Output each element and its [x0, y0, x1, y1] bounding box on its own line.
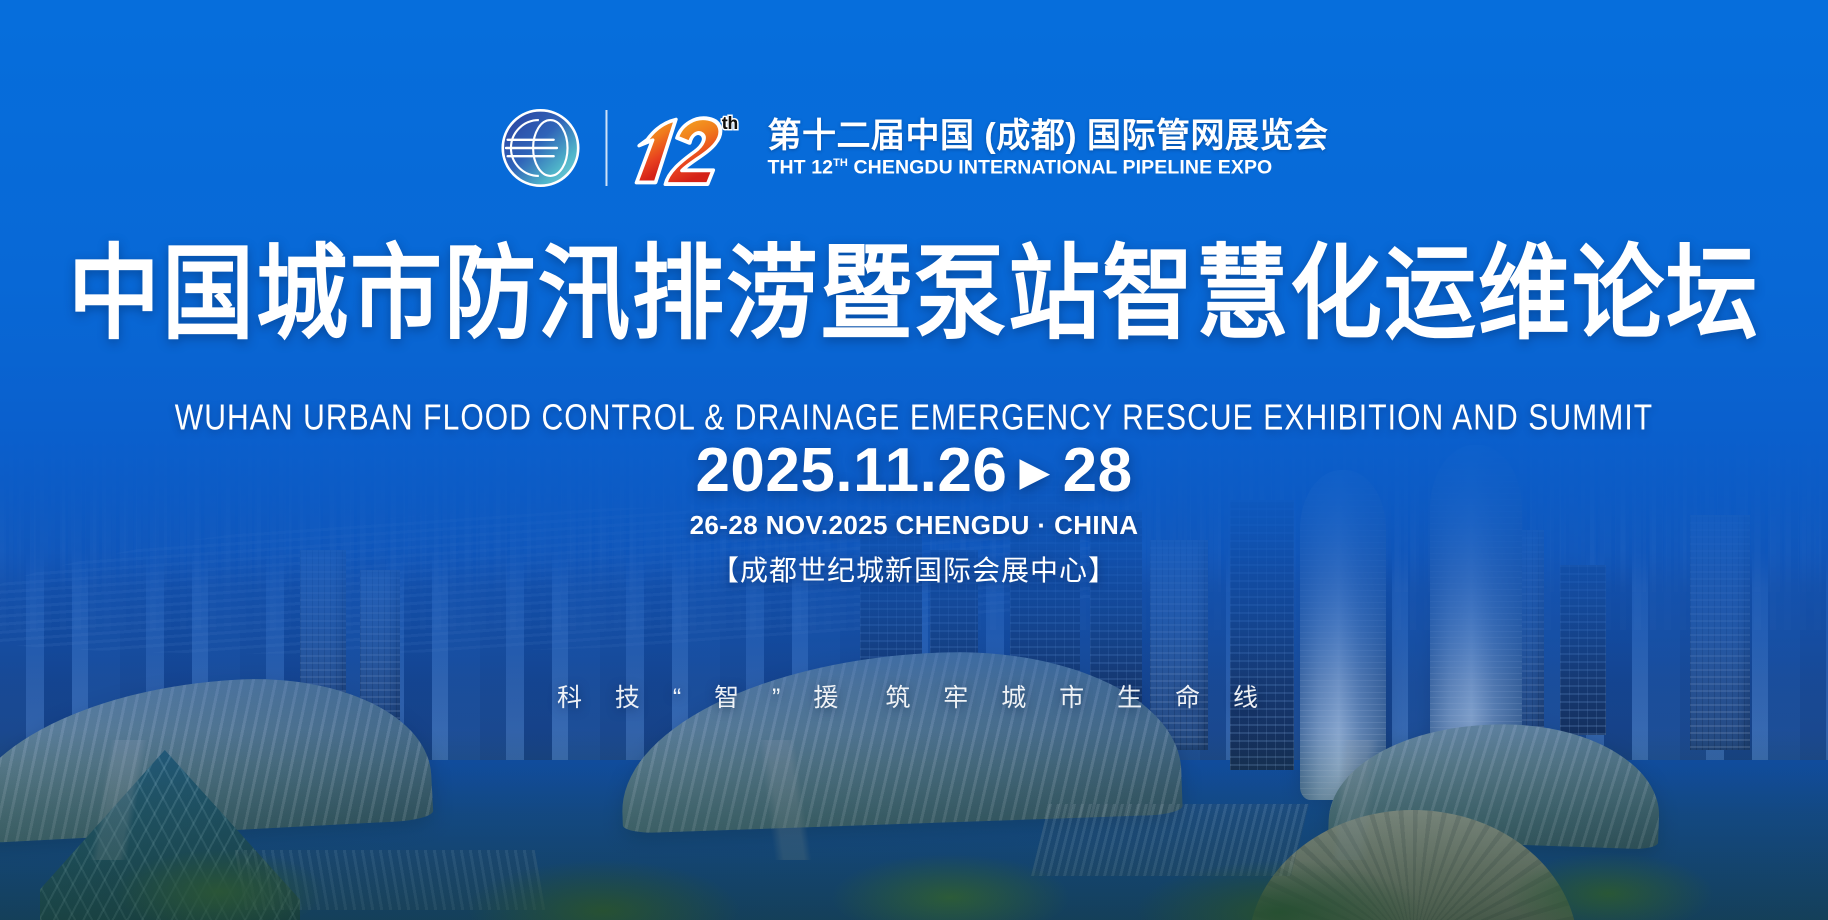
- play-triangle-icon: ▶: [1019, 452, 1050, 492]
- banner-content: th th 第十二届中国 (成都) 国际管网展览会 THT 12TH CHENG…: [0, 0, 1828, 920]
- date-start: 2025.11.26: [695, 436, 1007, 505]
- page-subtitle-english: WUHAN URBAN FLOOD CONTROL & DRAINAGE EME…: [14, 400, 1815, 436]
- expo-logo-lockup: th th 第十二届中国 (成都) 国际管网展览会 THT 12TH CHENG…: [499, 105, 1328, 191]
- edition-12th-mark: th th: [631, 105, 749, 191]
- slogan-part-one: 科 技 “ 智 ” 援: [557, 684, 851, 712]
- vertical-divider-icon: [605, 110, 607, 186]
- event-date-primary: 2025.11.26▶28: [0, 440, 1828, 502]
- event-slogan: 科 技 “ 智 ” 援筑 牢 城 市 生 命 线: [0, 678, 1828, 714]
- event-date-secondary: 26-28 NOV.2025 CHENGDU · CHINA: [0, 510, 1828, 541]
- expo-name-chinese: 第十二届中国 (成都) 国际管网展览会: [767, 117, 1328, 155]
- date-end: 28: [1063, 436, 1133, 505]
- svg-text:th: th: [722, 113, 738, 133]
- expo-banner: th th 第十二届中国 (成都) 国际管网展览会 THT 12TH CHENG…: [0, 0, 1828, 920]
- expo-name-english: THT 12TH CHENGDU INTERNATIONAL PIPELINE …: [767, 157, 1328, 179]
- page-title: 中国城市防汛排涝暨泵站智慧化运维论坛: [0, 243, 1828, 346]
- expo-logo-text: 第十二届中国 (成都) 国际管网展览会 THT 12TH CHENGDU INT…: [767, 117, 1328, 179]
- event-venue: 【成都世纪城新国际会展中心】: [0, 549, 1828, 589]
- pipeline-circle-emblem-icon: [499, 107, 581, 189]
- slogan-part-two: 筑 牢 城 市 生 命 线: [885, 684, 1271, 712]
